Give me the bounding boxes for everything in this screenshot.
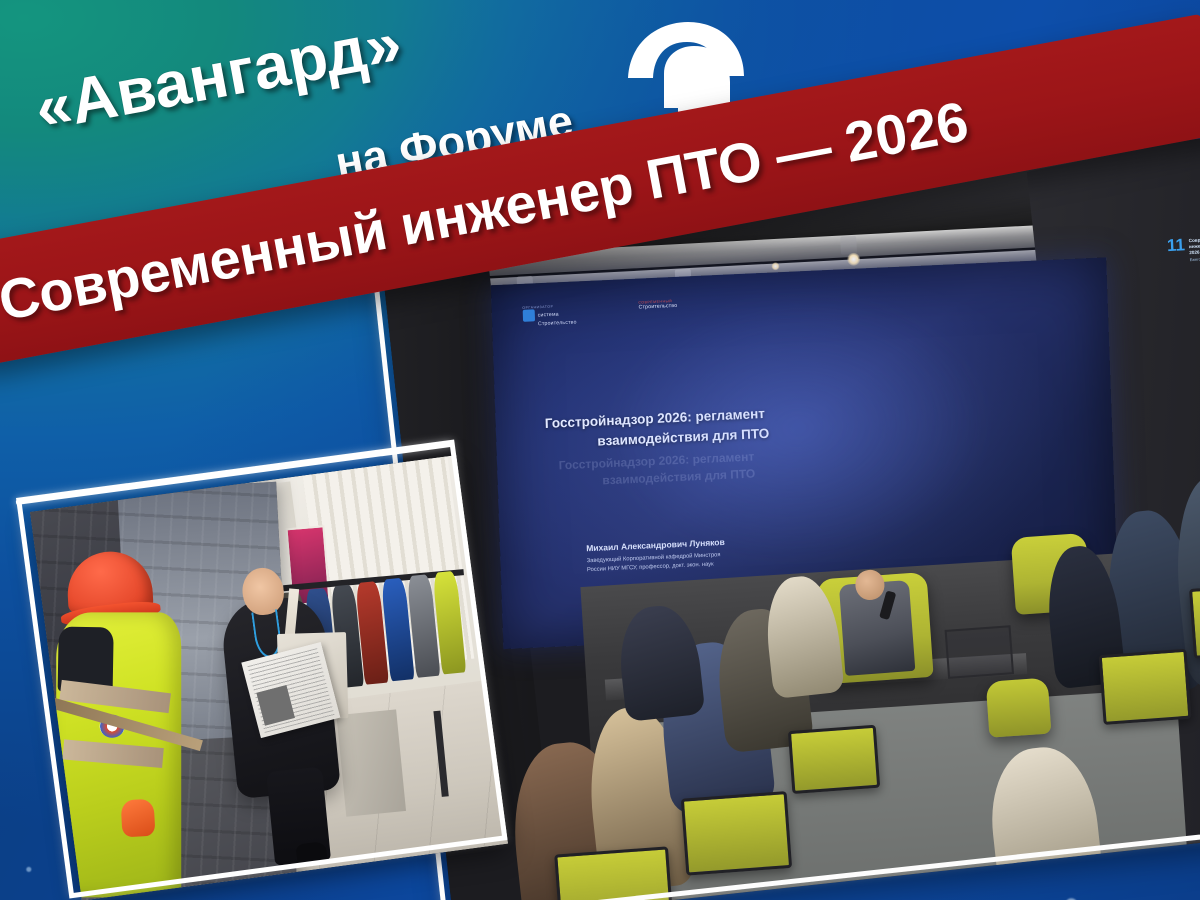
poster-canvas: 11 Современный инженер ПТО — 2026 Ежегод…	[0, 0, 1200, 900]
expo-photo-frame	[16, 440, 508, 899]
